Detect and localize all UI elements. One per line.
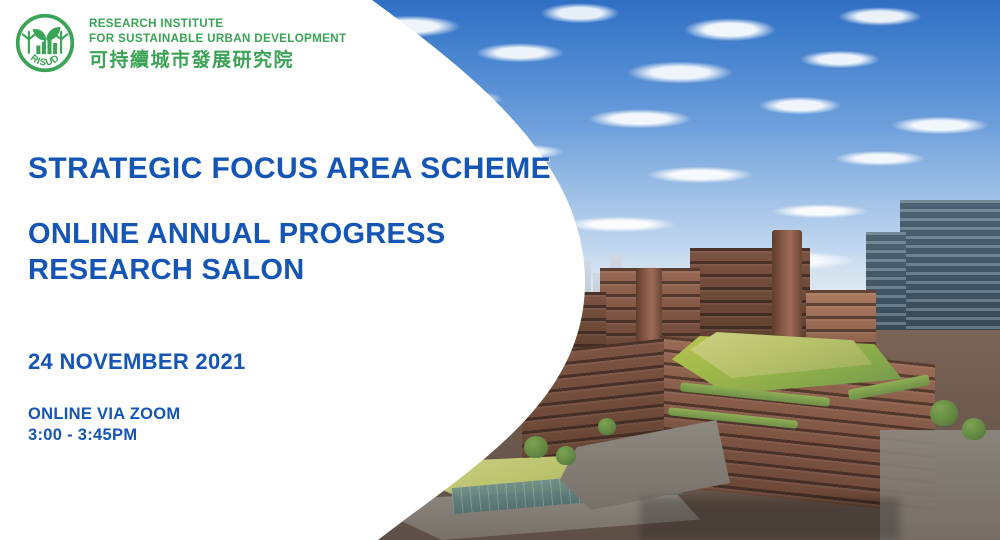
tree-b — [556, 446, 576, 465]
tree-d — [962, 418, 986, 440]
brand-name-line1: RESEARCH INSTITUTE — [89, 17, 346, 32]
poster-subtitle-line2: RESEARCH SALON — [28, 252, 551, 288]
brand-lockup: RISUD RESEARCH INSTITUTE FOR SUSTAINABLE… — [14, 12, 346, 74]
brand-name-chinese: 可持續城市發展研究院 — [89, 48, 346, 74]
headline-block: STRATEGIC FOCUS AREA SCHEME ONLINE ANNUA… — [28, 152, 551, 288]
poster-content: RISUD RESEARCH INSTITUTE FOR SUSTAINABLE… — [0, 0, 540, 540]
event-time: 3:00 - 3:45PM — [28, 425, 246, 446]
building-shadow — [640, 498, 900, 540]
event-date: 24 NOVEMBER 2021 — [28, 349, 246, 375]
event-poster: RISUD RESEARCH INSTITUTE FOR SUSTAINABLE… — [0, 0, 1000, 540]
brand-name-line2: FOR SUSTAINABLE URBAN DEVELOPMENT — [89, 32, 346, 47]
risud-circular-logo-icon: RISUD — [14, 12, 76, 74]
brand-text-block: RESEARCH INSTITUTE FOR SUSTAINABLE URBAN… — [89, 12, 346, 74]
tree-c — [930, 400, 958, 426]
poster-subtitle-line1: ONLINE ANNUAL PROGRESS — [28, 216, 551, 252]
event-details-block: 24 NOVEMBER 2021 ONLINE VIA ZOOM 3:00 - … — [28, 349, 246, 446]
glass-office-tower — [900, 200, 1000, 350]
poster-title: STRATEGIC FOCUS AREA SCHEME — [28, 152, 551, 186]
tree-e — [598, 418, 616, 435]
event-venue: ONLINE VIA ZOOM — [28, 404, 246, 425]
